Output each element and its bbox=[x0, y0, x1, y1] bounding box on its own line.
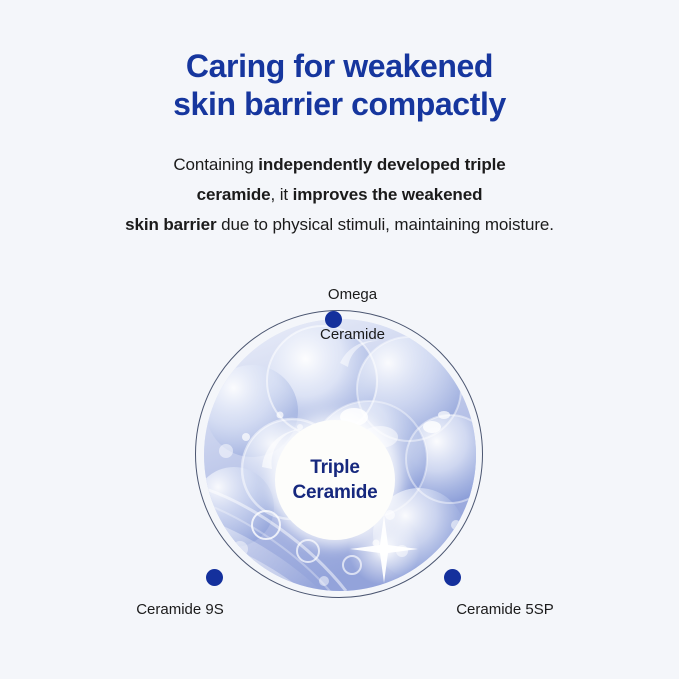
node-label-omega-line-1: Omega bbox=[328, 286, 377, 303]
page-title: Caring for weakened skin barrier compact… bbox=[0, 47, 679, 123]
description-line-1: Containing independently developed tripl… bbox=[0, 150, 679, 180]
node-label-ceramide-9s: Ceramide 9S bbox=[100, 600, 260, 620]
node-dot-ceramide-9s bbox=[206, 569, 223, 586]
description-line-1-bold: independently developed triple bbox=[258, 155, 505, 174]
description-line-3: skin barrier due to physical stimuli, ma… bbox=[0, 210, 679, 240]
description-line-2-bold-a: ceramide bbox=[197, 185, 271, 204]
product-benefit-panel: Caring for weakened skin barrier compact… bbox=[0, 0, 679, 679]
node-label-omega-line-2: Ceramide bbox=[320, 326, 385, 343]
center-badge-line-1: Triple bbox=[310, 455, 359, 480]
description-line-3-plain: due to physical stimuli, maintaining moi… bbox=[217, 215, 554, 234]
node-label-omega-ceramide: Omega Ceramide bbox=[195, 265, 485, 365]
node-dot-ceramide-5sp bbox=[444, 569, 461, 586]
description-line-2-bold-b: improves the weakened bbox=[293, 185, 483, 204]
description-line-3-bold: skin barrier bbox=[125, 215, 216, 234]
node-label-ceramide-5sp: Ceramide 5SP bbox=[420, 600, 590, 620]
triple-ceramide-diagram: Triple Ceramide Omega Ceramide Ceramide … bbox=[195, 310, 485, 600]
center-badge: Triple Ceramide bbox=[275, 420, 395, 540]
description-line-1-plain: Containing bbox=[173, 155, 258, 174]
description-line-2: ceramide, it improves the weakened bbox=[0, 180, 679, 210]
headline-line-2: skin barrier compactly bbox=[0, 85, 679, 123]
description-text: Containing independently developed tripl… bbox=[0, 150, 679, 240]
description-line-2-plain: , it bbox=[270, 185, 292, 204]
center-badge-line-2: Ceramide bbox=[293, 480, 378, 505]
headline-line-1: Caring for weakened bbox=[0, 47, 679, 85]
